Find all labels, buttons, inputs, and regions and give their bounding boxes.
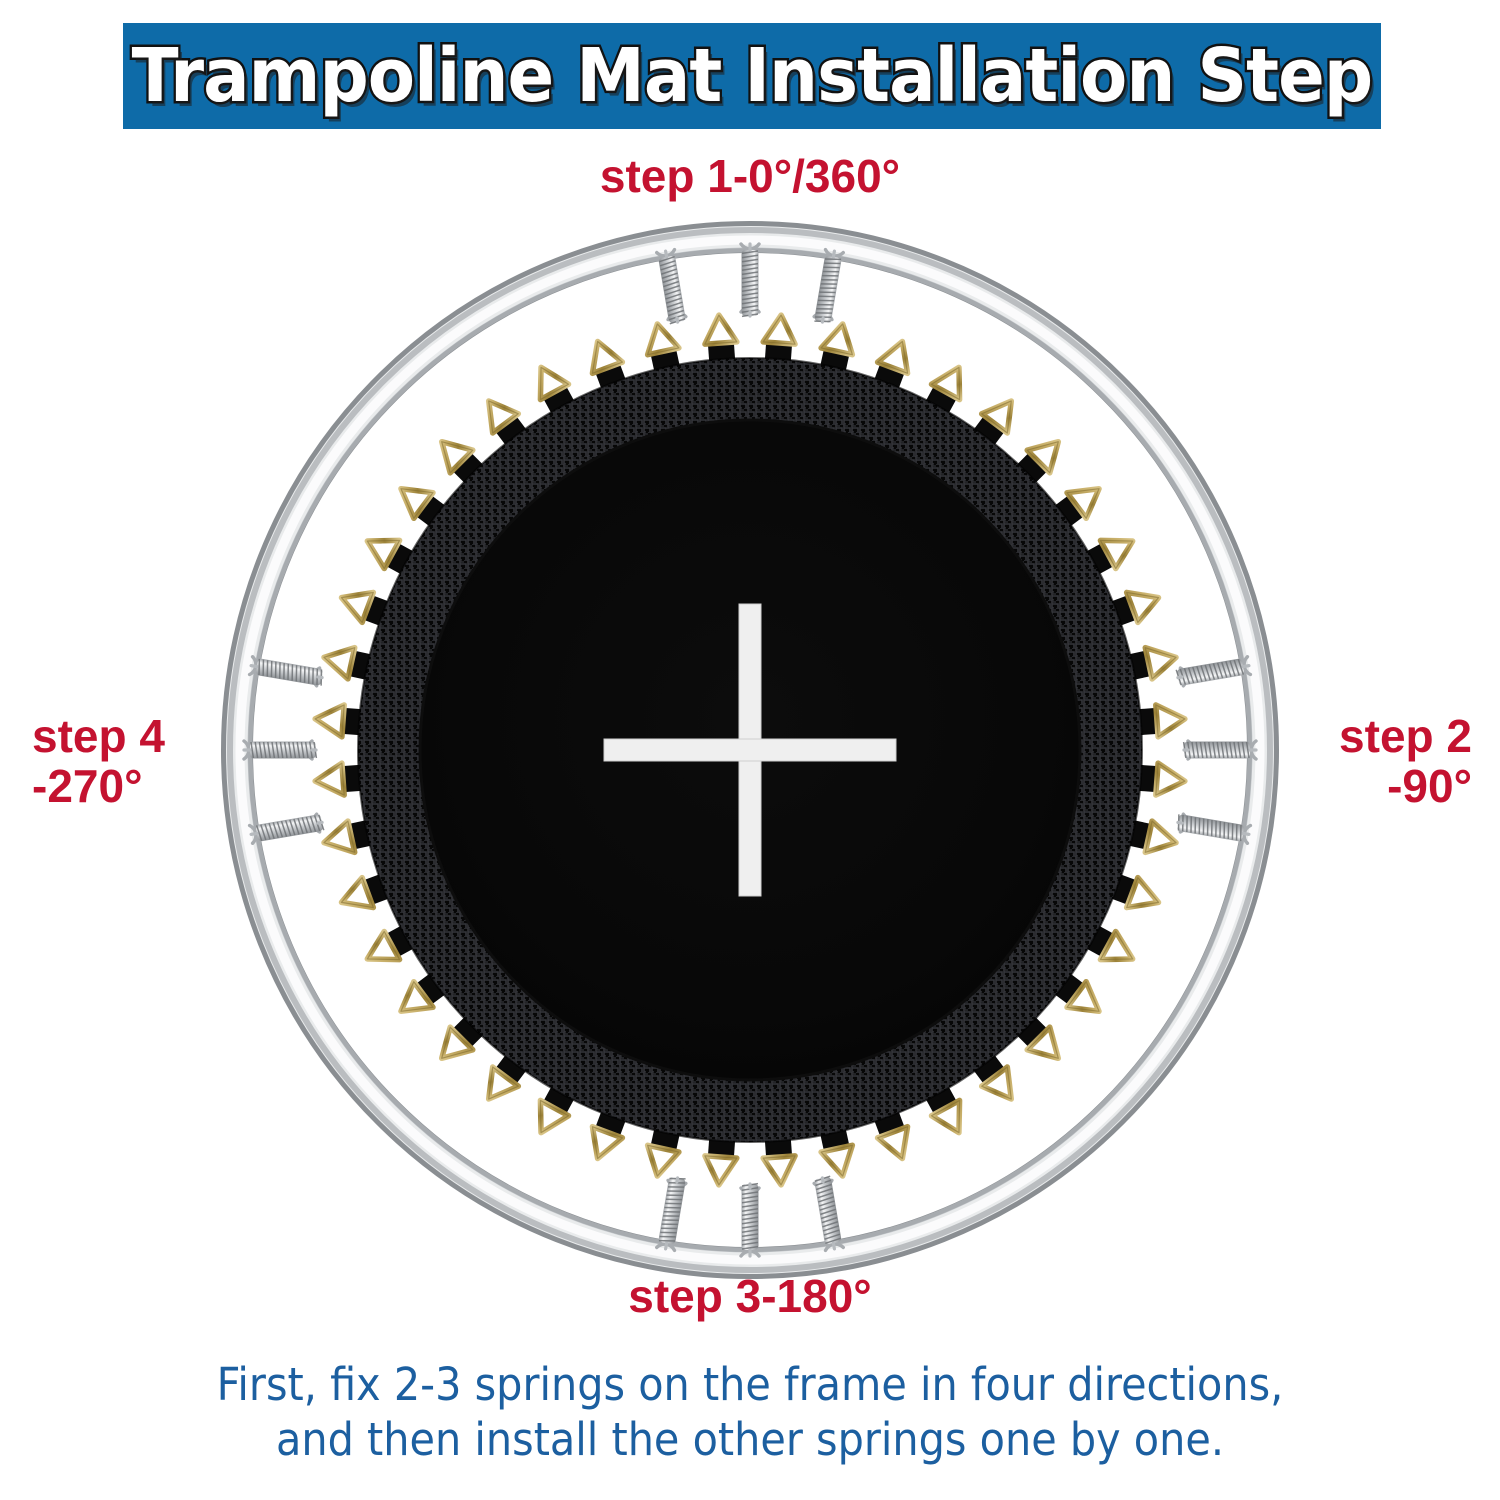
spring bbox=[1184, 741, 1256, 759]
spring bbox=[1176, 813, 1250, 843]
spring bbox=[813, 250, 843, 324]
instruction-caption: First, fix 2-3 springs on the frame in f… bbox=[60, 1358, 1440, 1468]
step-label-1: step 1-0°/360° bbox=[0, 152, 1500, 202]
spring bbox=[250, 657, 324, 687]
step-label-4: step 4 -270° bbox=[32, 712, 165, 811]
step-label-3: step 3-180° bbox=[0, 1272, 1500, 1322]
step-label-2: step 2 -90° bbox=[1339, 712, 1472, 811]
spring bbox=[657, 250, 687, 324]
spring bbox=[813, 1176, 843, 1250]
spring bbox=[741, 244, 759, 316]
spring bbox=[250, 813, 324, 843]
spring bbox=[244, 741, 316, 759]
spring bbox=[657, 1176, 687, 1250]
spring bbox=[1176, 657, 1250, 687]
spring bbox=[741, 1184, 759, 1256]
